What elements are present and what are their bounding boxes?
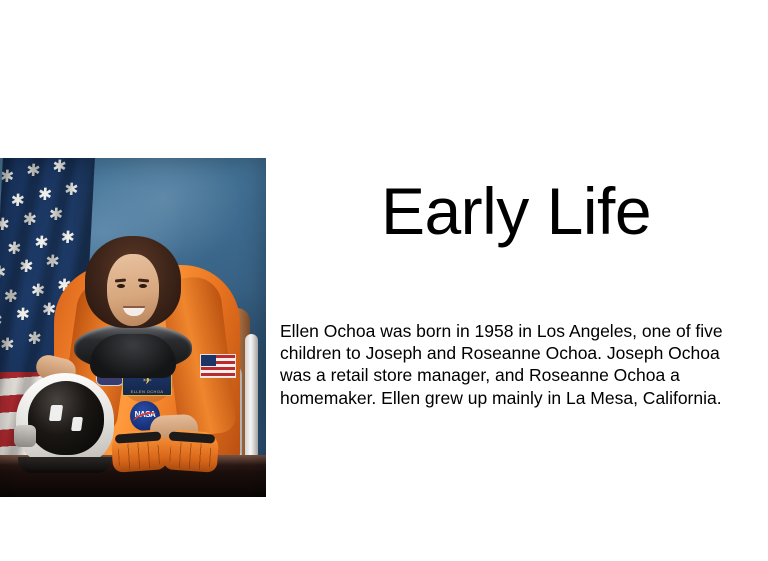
visor-reflection-a <box>49 405 63 421</box>
astronaut-head <box>97 244 169 336</box>
black-collar <box>90 334 176 378</box>
face <box>107 254 159 326</box>
eyebrow-right <box>138 278 149 282</box>
visor-reflection-b <box>71 417 83 431</box>
eye-left <box>117 284 125 288</box>
helmet-base <box>18 457 112 473</box>
helmet-visor <box>28 381 104 455</box>
suit-gloves <box>112 423 224 471</box>
flag-patch-canton <box>201 355 216 366</box>
eye-right <box>139 284 147 288</box>
slide-canvas: ✱ ✱ ✱ ✱ ✱ ✱ ✱ ✱ ✱ ✱ ✱ ✱ ✱ ✱ ✱ ✱ ✱ <box>0 0 768 561</box>
glove-fingers-left <box>117 442 161 471</box>
helmet-latch <box>14 425 36 447</box>
eyebrow-left <box>115 278 126 282</box>
launch-helmet <box>16 373 114 467</box>
photo-inner: ✱ ✱ ✱ ✱ ✱ ✱ ✱ ✱ ✱ ✱ ✱ ✱ ✱ ✱ ✱ ✱ ✱ <box>0 158 266 497</box>
glove-left <box>111 429 168 473</box>
glove-right <box>163 429 220 473</box>
wings-patch-label: ELLEN OCHOA <box>123 389 171 394</box>
astronaut-portrait-photo: ✱ ✱ ✱ ✱ ✱ ✱ ✱ ✱ ✱ ✱ ✱ ✱ ✱ ✱ ✱ ✱ ✱ <box>0 158 266 497</box>
smile <box>123 306 145 316</box>
slide-body-text: Ellen Ochoa was born in 1958 in Los Ange… <box>280 320 742 409</box>
slide-title: Early Life <box>290 178 742 245</box>
us-flag-patch <box>200 354 236 378</box>
glove-fingers-right <box>169 442 213 471</box>
